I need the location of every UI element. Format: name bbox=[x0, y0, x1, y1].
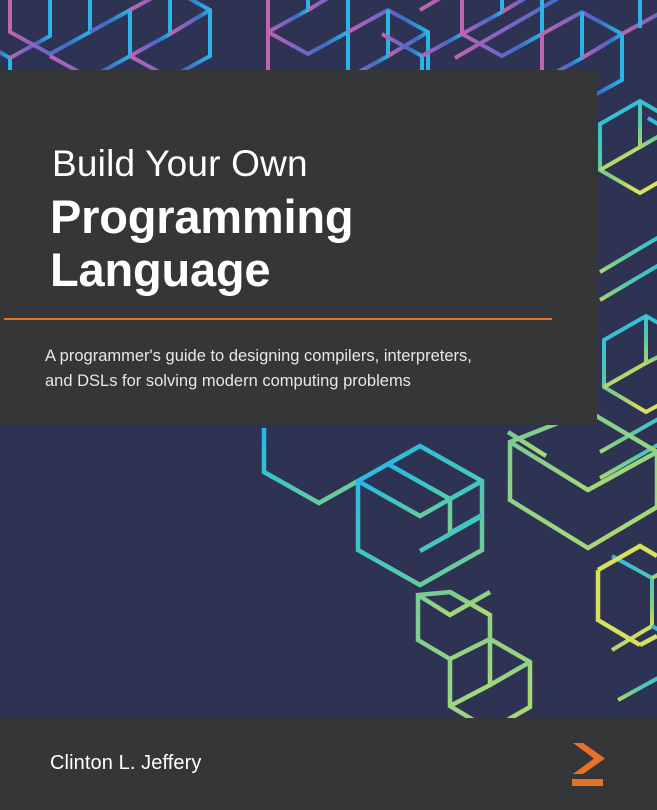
author-name: Clinton L. Jeffery bbox=[50, 752, 202, 775]
title-overline: Build Your Own bbox=[52, 145, 308, 182]
subtitle-line-2: and DSLs for solving modern computing pr… bbox=[45, 369, 565, 394]
packt-chevron-logo-icon bbox=[569, 741, 613, 787]
book-cover: Build Your Own Programming Language A pr… bbox=[0, 0, 657, 810]
orange-divider-rule bbox=[4, 318, 552, 320]
subtitle-line-1: A programmer's guide to designing compil… bbox=[45, 344, 565, 369]
title-main-line-1: Programming bbox=[50, 192, 353, 243]
title-main-line-2: Language bbox=[50, 245, 270, 296]
subtitle: A programmer's guide to designing compil… bbox=[45, 344, 565, 394]
